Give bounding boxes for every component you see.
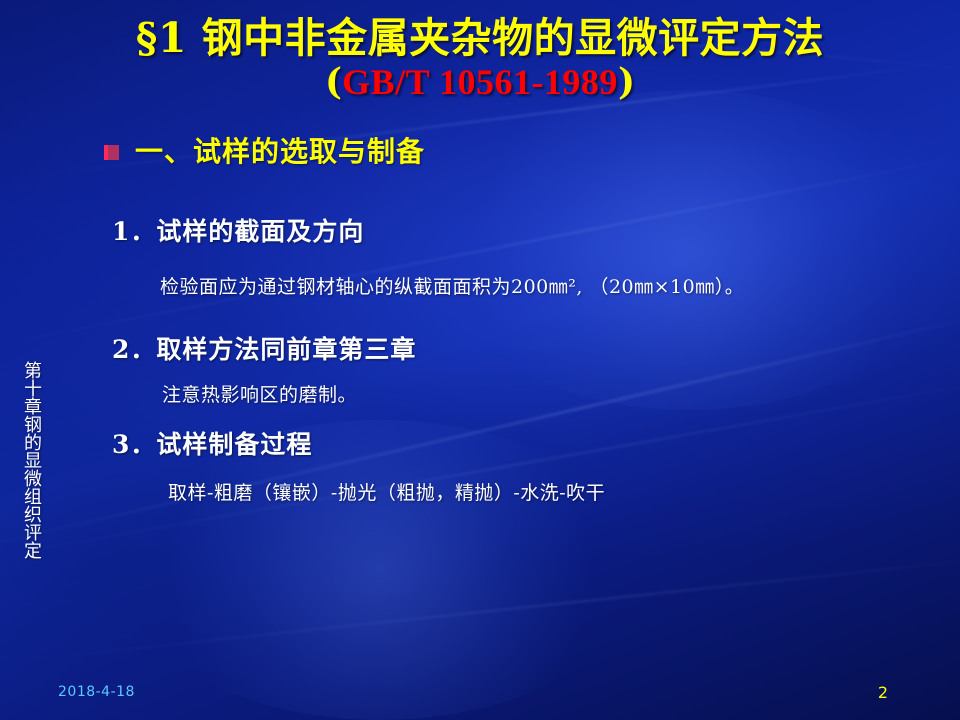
background-streak	[0, 376, 960, 566]
background-streak	[0, 151, 960, 351]
section-heading-label: 一、试样的选取与制备	[135, 130, 425, 170]
list-item-heading-2: 2．取样方法同前章第三章	[112, 330, 416, 366]
slide-title: §1 钢中非金属夹杂物的显微评定方法	[0, 14, 960, 62]
presentation-slide: §1 钢中非金属夹杂物的显微评定方法 (GB/T 10561-1989) 一、试…	[0, 0, 960, 720]
footer-page-number: 2	[878, 683, 888, 702]
bullet-square-icon	[104, 145, 119, 160]
list-item-body-1: 检验面应为通过钢材轴心的纵截面面积为200㎜², （20㎜×10㎜）。	[160, 272, 744, 299]
list-item-body-3: 取样-粗磨（镶嵌）-抛光（粗抛，精抛）-水洗-吹干	[168, 478, 605, 505]
background-streak	[0, 555, 960, 668]
list-item-body-2: 注意热影响区的磨制。	[162, 380, 357, 407]
subtitle-paren-open: (	[325, 61, 342, 103]
list-item-heading-1: 1．试样的截面及方向	[112, 212, 364, 248]
section-heading: 一、试样的选取与制备	[104, 130, 425, 170]
chapter-side-label: 第十章钢的显微组织评定	[14, 275, 44, 645]
subtitle-paren-close: )	[618, 61, 635, 103]
footer-date: 2018-4-18	[58, 684, 135, 700]
slide-subtitle: (GB/T 10561-1989)	[0, 62, 960, 103]
slide-title-block: §1 钢中非金属夹杂物的显微评定方法 (GB/T 10561-1989)	[0, 14, 960, 104]
list-item-heading-3: 3．试样制备过程	[112, 425, 312, 461]
background-glow	[430, 90, 950, 410]
standard-code: GB/T 10561-1989	[342, 62, 618, 102]
background-glow	[120, 420, 640, 720]
